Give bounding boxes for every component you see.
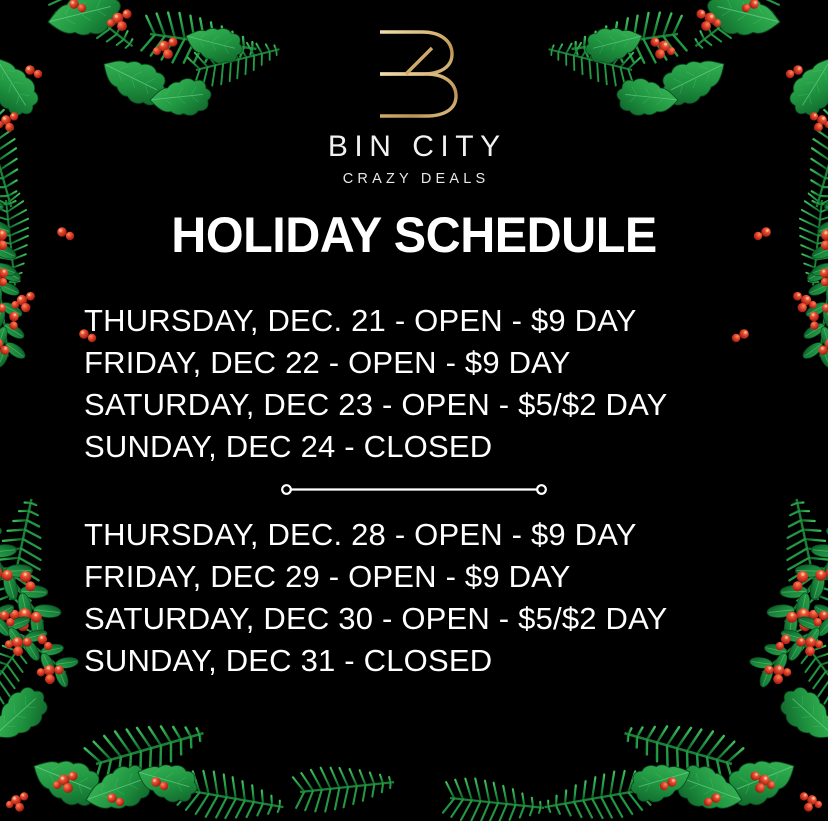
brand-name: BIN CITY	[0, 132, 828, 162]
brand-tagline: CRAZY DEALS	[0, 172, 828, 187]
b-monogram-icon	[366, 28, 462, 120]
schedule-line: THURSDAY, DEC. 28 - OPEN - $9 DAY	[84, 514, 784, 556]
holiday-schedule-poster: BIN CITY CRAZY DEALS HOLIDAY SCHEDULE TH…	[0, 0, 828, 821]
schedule-line: SATURDAY, DEC 30 - OPEN - $5/$2 DAY	[84, 598, 784, 640]
schedule-block-two: THURSDAY, DEC. 28 - OPEN - $9 DAY FRIDAY…	[84, 514, 784, 682]
schedule-line: SUNDAY, DEC 24 - CLOSED	[84, 426, 784, 468]
schedule-line: THURSDAY, DEC. 21 - OPEN - $9 DAY	[84, 300, 784, 342]
line-with-end-rings-divider	[281, 483, 547, 496]
schedule-line: SATURDAY, DEC 23 - OPEN - $5/$2 DAY	[84, 384, 784, 426]
page-title: HOLIDAY SCHEDULE	[12, 208, 815, 263]
schedule-block-one: THURSDAY, DEC. 21 - OPEN - $9 DAY FRIDAY…	[84, 300, 784, 468]
schedule-line: SUNDAY, DEC 31 - CLOSED	[84, 640, 784, 682]
logo-block: BIN CITY CRAZY DEALS	[0, 28, 828, 187]
schedule-line: FRIDAY, DEC 22 - OPEN - $9 DAY	[84, 342, 784, 384]
schedule-line: FRIDAY, DEC 29 - OPEN - $9 DAY	[84, 556, 784, 598]
